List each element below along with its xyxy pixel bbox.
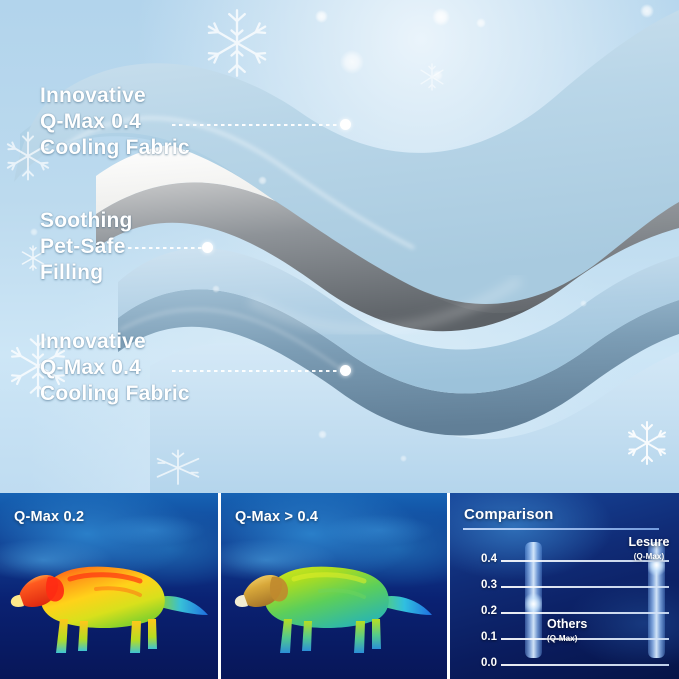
ytick-0.4: 0.4 — [463, 553, 497, 565]
gridline-0.0 — [501, 664, 669, 666]
ytick-0.3: 0.3 — [463, 579, 497, 591]
thermal-panel-low-qmax-label: Q-Max 0.2 — [14, 509, 84, 525]
leader-line-filling — [128, 247, 204, 249]
chart-plot-area: 0.4 0.3 0.2 0.1 0.0 Others (Q-Max) Lesur… — [463, 534, 669, 671]
leader-dot-filling — [202, 242, 213, 253]
thermal-panel-high-qmax-label: Q-Max > 0.4 — [235, 509, 318, 525]
leader-line-top-fabric — [172, 124, 342, 126]
gridline-0.2 — [501, 612, 669, 614]
leader-line-bottom-fabric — [172, 370, 342, 372]
bar-label-lesure: Lesure (Q-Max) — [607, 536, 679, 563]
thermal-panel-high-qmax: Q-Max > 0.4 — [221, 493, 447, 679]
bar-label-others-name: Others — [547, 617, 587, 631]
chart-title-rule — [463, 528, 659, 530]
ytick-0.1: 0.1 — [463, 631, 497, 643]
comparison-panel-strip: Q-Max 0.2 — [0, 493, 679, 679]
ytick-0.2: 0.2 — [463, 605, 497, 617]
bar-label-others: Others (Q-Max) — [547, 618, 587, 645]
comparison-chart-panel: Comparison 0.4 0.3 0.2 — [450, 493, 679, 679]
leader-dot-top-fabric — [340, 119, 351, 130]
product-infographic: Innovative Q-Max 0.4 Cooling Fabric Soot… — [0, 0, 679, 679]
callout-filling: Soothing Pet-Safe Filling — [40, 208, 133, 286]
fabric-layers-scene: Innovative Q-Max 0.4 Cooling Fabric Soot… — [0, 0, 679, 493]
callout-bottom-fabric: Innovative Q-Max 0.4 Cooling Fabric — [40, 329, 190, 407]
callout-top-fabric: Innovative Q-Max 0.4 Cooling Fabric — [40, 83, 190, 161]
callout-bottom-fabric-text: Innovative Q-Max 0.4 Cooling Fabric — [40, 329, 190, 407]
bar-label-lesure-sub: (Q-Max) — [607, 550, 679, 563]
callout-filling-text: Soothing Pet-Safe Filling — [40, 208, 133, 286]
callout-top-fabric-text: Innovative Q-Max 0.4 Cooling Fabric — [40, 83, 190, 161]
bar-label-others-sub: (Q-Max) — [547, 632, 587, 645]
chart-title: Comparison — [464, 506, 554, 523]
gridline-0.3 — [501, 586, 669, 588]
thermal-panel-low-qmax: Q-Max 0.2 — [0, 493, 218, 679]
thermal-dog-hot — [8, 545, 212, 661]
ytick-0.0: 0.0 — [463, 657, 497, 669]
leader-dot-bottom-fabric — [340, 365, 351, 376]
thermal-dog-cool — [231, 545, 437, 661]
bar-label-lesure-name: Lesure — [629, 535, 670, 549]
